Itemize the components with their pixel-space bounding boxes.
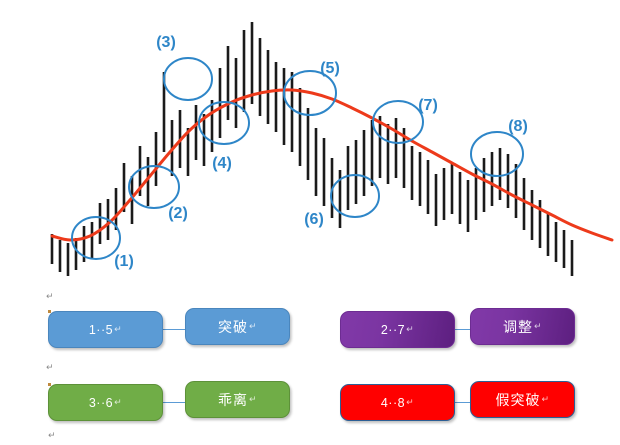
pilcrow-mark: ↵ [48,432,56,441]
return-mark: ↵ [114,397,122,408]
pilcrow-mark: ↵ [46,293,54,302]
return-mark: ↵ [541,394,549,405]
return-mark: ↵ [406,324,414,335]
annotation-label-6: (6) [304,211,324,228]
return-mark: ↵ [534,321,542,332]
annotation-label-4: (4) [212,155,232,172]
annotation-label-2: (2) [168,205,188,222]
annotation-label-8: (8) [508,118,528,135]
node-adjustment[interactable]: 调整↵ [470,308,575,345]
return-mark: ↵ [249,394,257,405]
return-mark: ↵ [249,321,257,332]
return-mark: ↵ [114,324,122,335]
annotation-circle-4 [199,102,249,144]
node-breakout[interactable]: 突破↵ [185,308,290,345]
annotation-circle-3 [164,58,212,100]
node-false-breakout[interactable]: 假突破↵ [470,381,575,418]
legend-diagram: ↵ ↵ ↵ ↵ 1··5↵ 突破↵ 2··7↵ 调整↵ 3··6↵ 乖离↵ [0,288,620,445]
node-4-8[interactable]: 4··8↵ [340,384,455,421]
return-mark: ↵ [406,397,414,408]
node-4-8-label: 4··8 [381,396,405,410]
candlestick-trend-chart: (1)(2)(3)(4)(5)(6)(7)(8) [0,0,620,290]
node-1-5-label: 1··5 [89,323,113,337]
node-deviation-label: 乖离 [218,390,248,410]
node-breakout-label: 突破 [218,317,248,337]
node-1-5[interactable]: 1··5↵ [48,311,163,348]
node-false-breakout-label: 假突破 [495,390,540,410]
annotation-circle-8 [471,132,523,176]
node-3-6-label: 3··6 [89,396,113,410]
node-adjustment-label: 调整 [503,317,533,337]
slide-canvas: (1)(2)(3)(4)(5)(6)(7)(8) ↵ ↵ ↵ ↵ 1··5↵ 突… [0,0,620,445]
chart-svg: (1)(2)(3)(4)(5)(6)(7)(8) [0,0,620,290]
annotation-label-7: (7) [418,97,438,114]
node-deviation[interactable]: 乖离↵ [185,381,290,418]
node-2-7-label: 2··7 [381,323,405,337]
node-2-7[interactable]: 2··7↵ [340,311,455,348]
pilcrow-mark: ↵ [46,364,54,373]
node-3-6[interactable]: 3··6↵ [48,384,163,421]
annotation-label-5: (5) [320,60,340,77]
candlestick-bars [52,22,572,276]
annotation-label-3: (3) [156,34,176,51]
annotation-label-1: (1) [114,253,134,270]
